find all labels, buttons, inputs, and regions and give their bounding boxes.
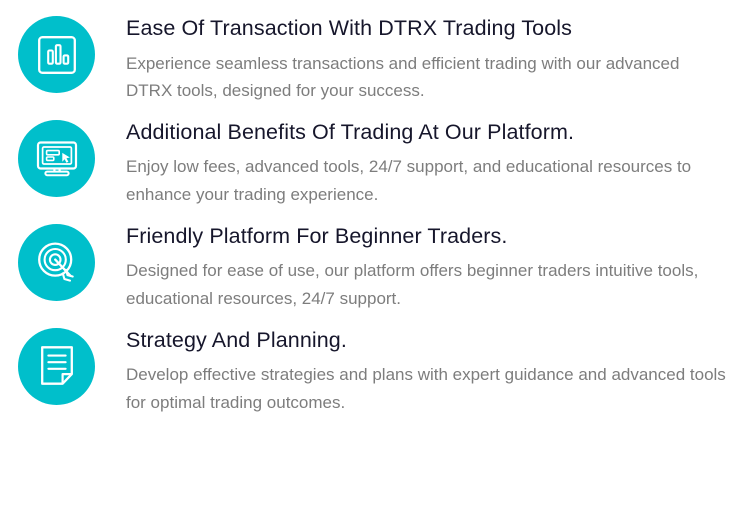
feature-item-ease-of-transaction: Ease Of Transaction With DTRX Trading To… [0, 12, 752, 105]
bar-chart-icon [36, 34, 78, 76]
feature-text-block: Additional Benefits Of Trading At Our Pl… [95, 116, 752, 209]
feature-title: Strategy And Planning. [126, 324, 744, 355]
feature-description: Designed for ease of use, our platform o… [126, 257, 726, 312]
document-page-icon [37, 344, 77, 388]
feature-text-block: Friendly Platform For Beginner Traders. … [95, 220, 752, 313]
feature-icon-badge [18, 224, 95, 301]
feature-description: Enjoy low fees, advanced tools, 24/7 sup… [126, 153, 726, 208]
feature-icon-badge [18, 328, 95, 405]
desktop-monitor-cursor-icon [35, 136, 79, 180]
feature-text-block: Ease Of Transaction With DTRX Trading To… [95, 12, 752, 105]
feature-list: Ease Of Transaction With DTRX Trading To… [0, 0, 752, 428]
target-arrow-icon [35, 240, 79, 284]
feature-item-friendly-platform: Friendly Platform For Beginner Traders. … [0, 220, 752, 313]
feature-item-additional-benefits: Additional Benefits Of Trading At Our Pl… [0, 116, 752, 209]
feature-icon-badge [18, 120, 95, 197]
feature-title: Friendly Platform For Beginner Traders. [126, 220, 744, 251]
feature-text-block: Strategy And Planning. Develop effective… [95, 324, 752, 417]
feature-icon-badge [18, 16, 95, 93]
feature-title: Ease Of Transaction With DTRX Trading To… [126, 12, 744, 43]
feature-description: Develop effective strategies and plans w… [126, 361, 726, 416]
feature-title: Additional Benefits Of Trading At Our Pl… [126, 116, 744, 147]
feature-item-strategy-and-planning: Strategy And Planning. Develop effective… [0, 324, 752, 417]
feature-description: Experience seamless transactions and eff… [126, 50, 726, 105]
